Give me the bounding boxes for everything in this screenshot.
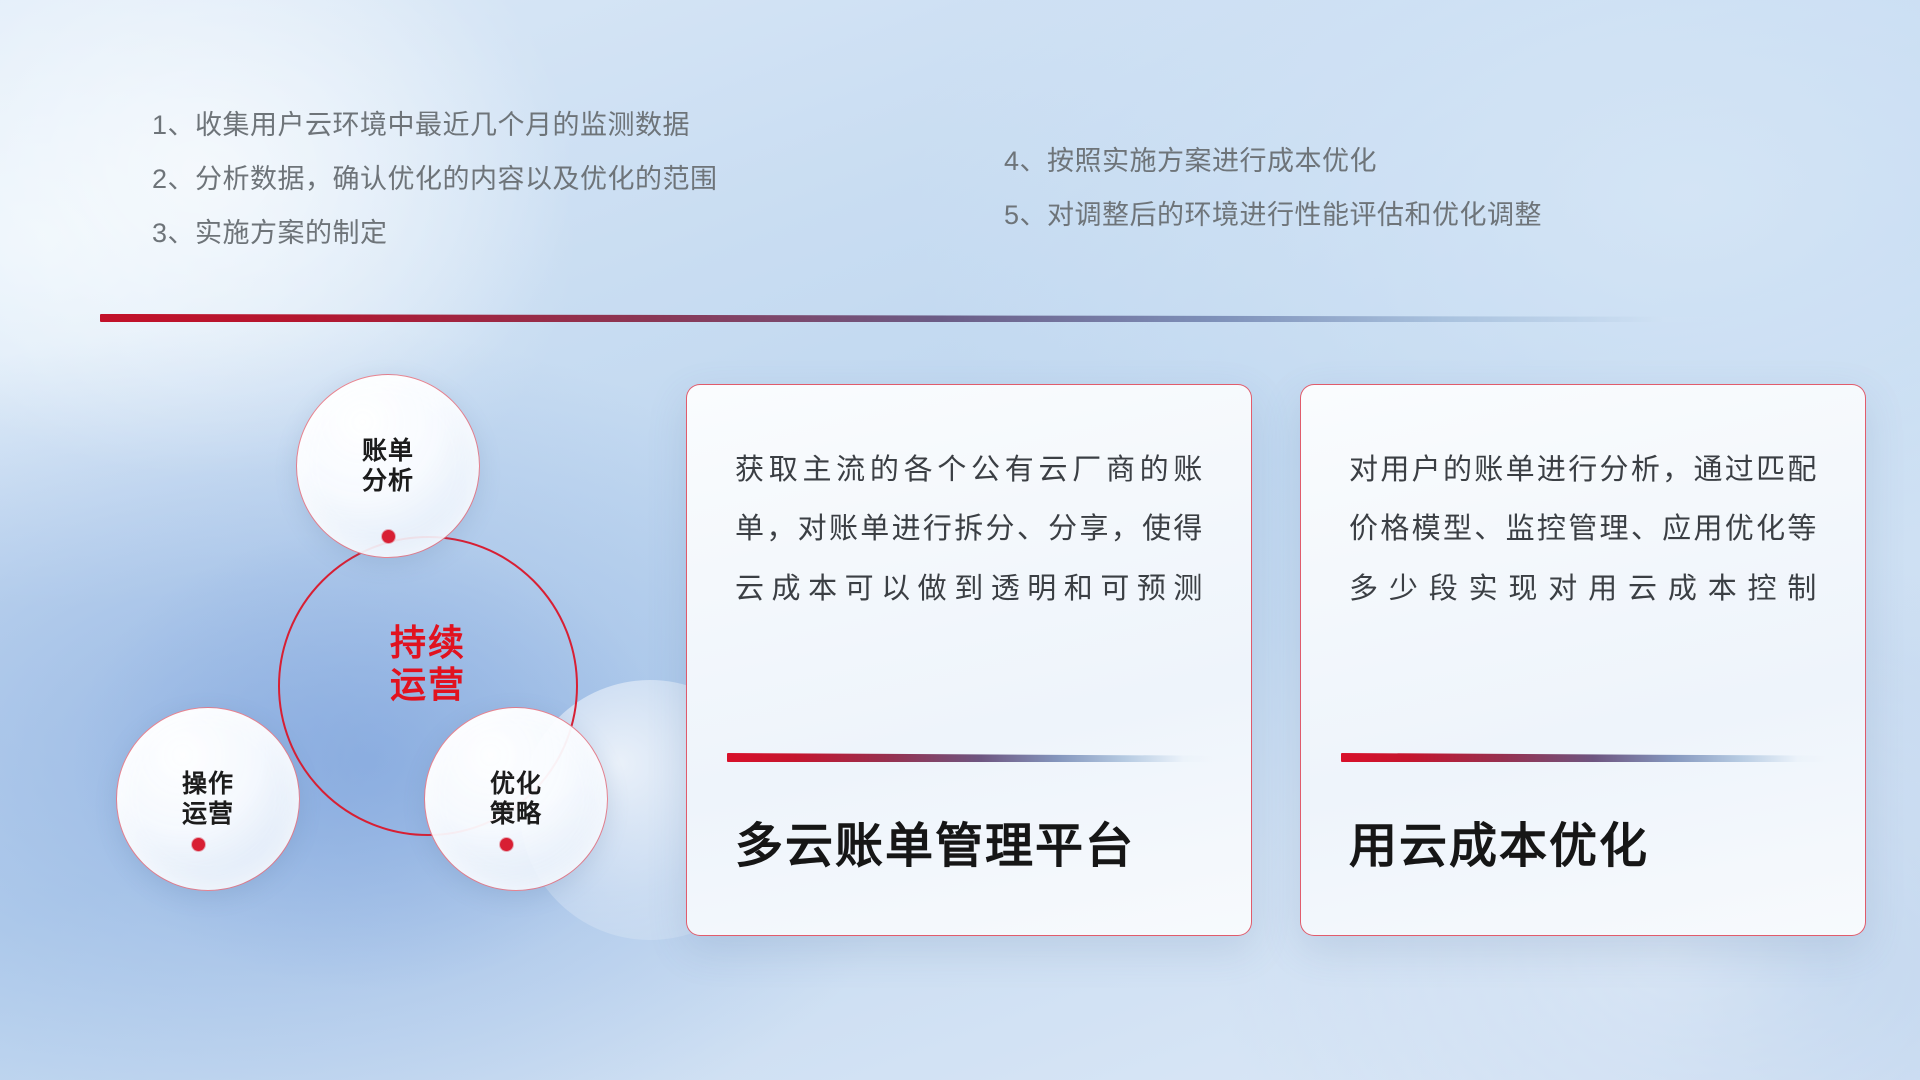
continuous-operation-diagram: 持续 运营 账单 分析 操作 运营 优化 策略 [96,352,616,932]
step-item: 5、对调整后的环境进行性能评估和优化调整 [1004,202,1542,229]
diagram-center-label: 持续 运营 [278,622,578,707]
center-label-line2: 运营 [278,664,578,706]
card-body-text: 对用户的账单进行分析，通过匹配价格模型、监控管理、应用优化等多少段实现对用云成本… [1349,441,1817,619]
bubble-label-line1: 操作 [182,769,234,800]
diagram-bubble-operation[interactable]: 操作 运营 [116,707,300,891]
bubble-label-line2: 分析 [362,466,414,497]
diagram-bubble-optimization-strategy[interactable]: 优化 策略 [424,707,608,891]
step-item: 3、实施方案的制定 [152,220,718,247]
slide-canvas: 1、收集用户云环境中最近几个月的监测数据 2、分析数据，确认优化的内容以及优化的… [0,0,1920,1080]
center-label-line1: 持续 [278,622,578,664]
bubble-label-line2: 运营 [182,799,234,830]
steps-right-column: 4、按照实施方案进行成本优化 5、对调整后的环境进行性能评估和优化调整 [1004,148,1542,256]
step-item: 1、收集用户云环境中最近几个月的监测数据 [152,112,718,139]
section-divider-rule [100,314,1780,322]
step-item: 4、按照实施方案进行成本优化 [1004,148,1542,175]
bubble-label-line1: 优化 [490,769,542,800]
node-dot-top-icon [382,530,395,543]
card-title: 多云账单管理平台 [735,819,1135,874]
card-cloud-cost-optimization[interactable]: 对用户的账单进行分析，通过匹配价格模型、监控管理、应用优化等多少段实现对用云成本… [1300,384,1866,936]
card-multicloud-billing-platform[interactable]: 获取主流的各个公有云厂商的账单，对账单进行拆分、分享，使得云成本可以做到透明和可… [686,384,1252,936]
card-divider-rule [1341,753,1827,762]
bubble-label-line2: 策略 [490,799,542,830]
card-divider-rule [727,753,1213,762]
card-body-text: 获取主流的各个公有云厂商的账单，对账单进行拆分、分享，使得云成本可以做到透明和可… [735,441,1203,619]
step-item: 2、分析数据，确认优化的内容以及优化的范围 [152,166,718,193]
bubble-label-line1: 账单 [362,436,414,467]
steps-left-column: 1、收集用户云环境中最近几个月的监测数据 2、分析数据，确认优化的内容以及优化的… [152,112,718,274]
node-dot-left-icon [192,838,205,851]
node-dot-right-icon [500,838,513,851]
card-title: 用云成本优化 [1349,819,1649,874]
